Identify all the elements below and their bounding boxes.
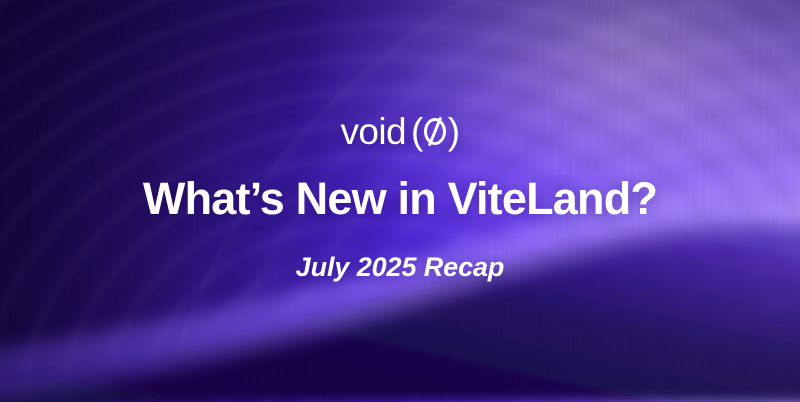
banner-content: void ( 0 ) What’s New in ViteLand? July … xyxy=(0,0,800,402)
announcement-banner: void ( 0 ) What’s New in ViteLand? July … xyxy=(0,0,800,402)
void-zero-logo: void ( 0 ) xyxy=(341,113,460,150)
logo-paren-open: ( xyxy=(411,113,423,150)
slashed-zero-icon: 0 xyxy=(424,118,446,145)
page-subtitle: July 2025 Recap xyxy=(296,253,505,283)
logo-wordmark: void xyxy=(341,113,406,150)
logo-paren-close: ) xyxy=(448,113,460,150)
page-title: What’s New in ViteLand? xyxy=(143,175,657,223)
